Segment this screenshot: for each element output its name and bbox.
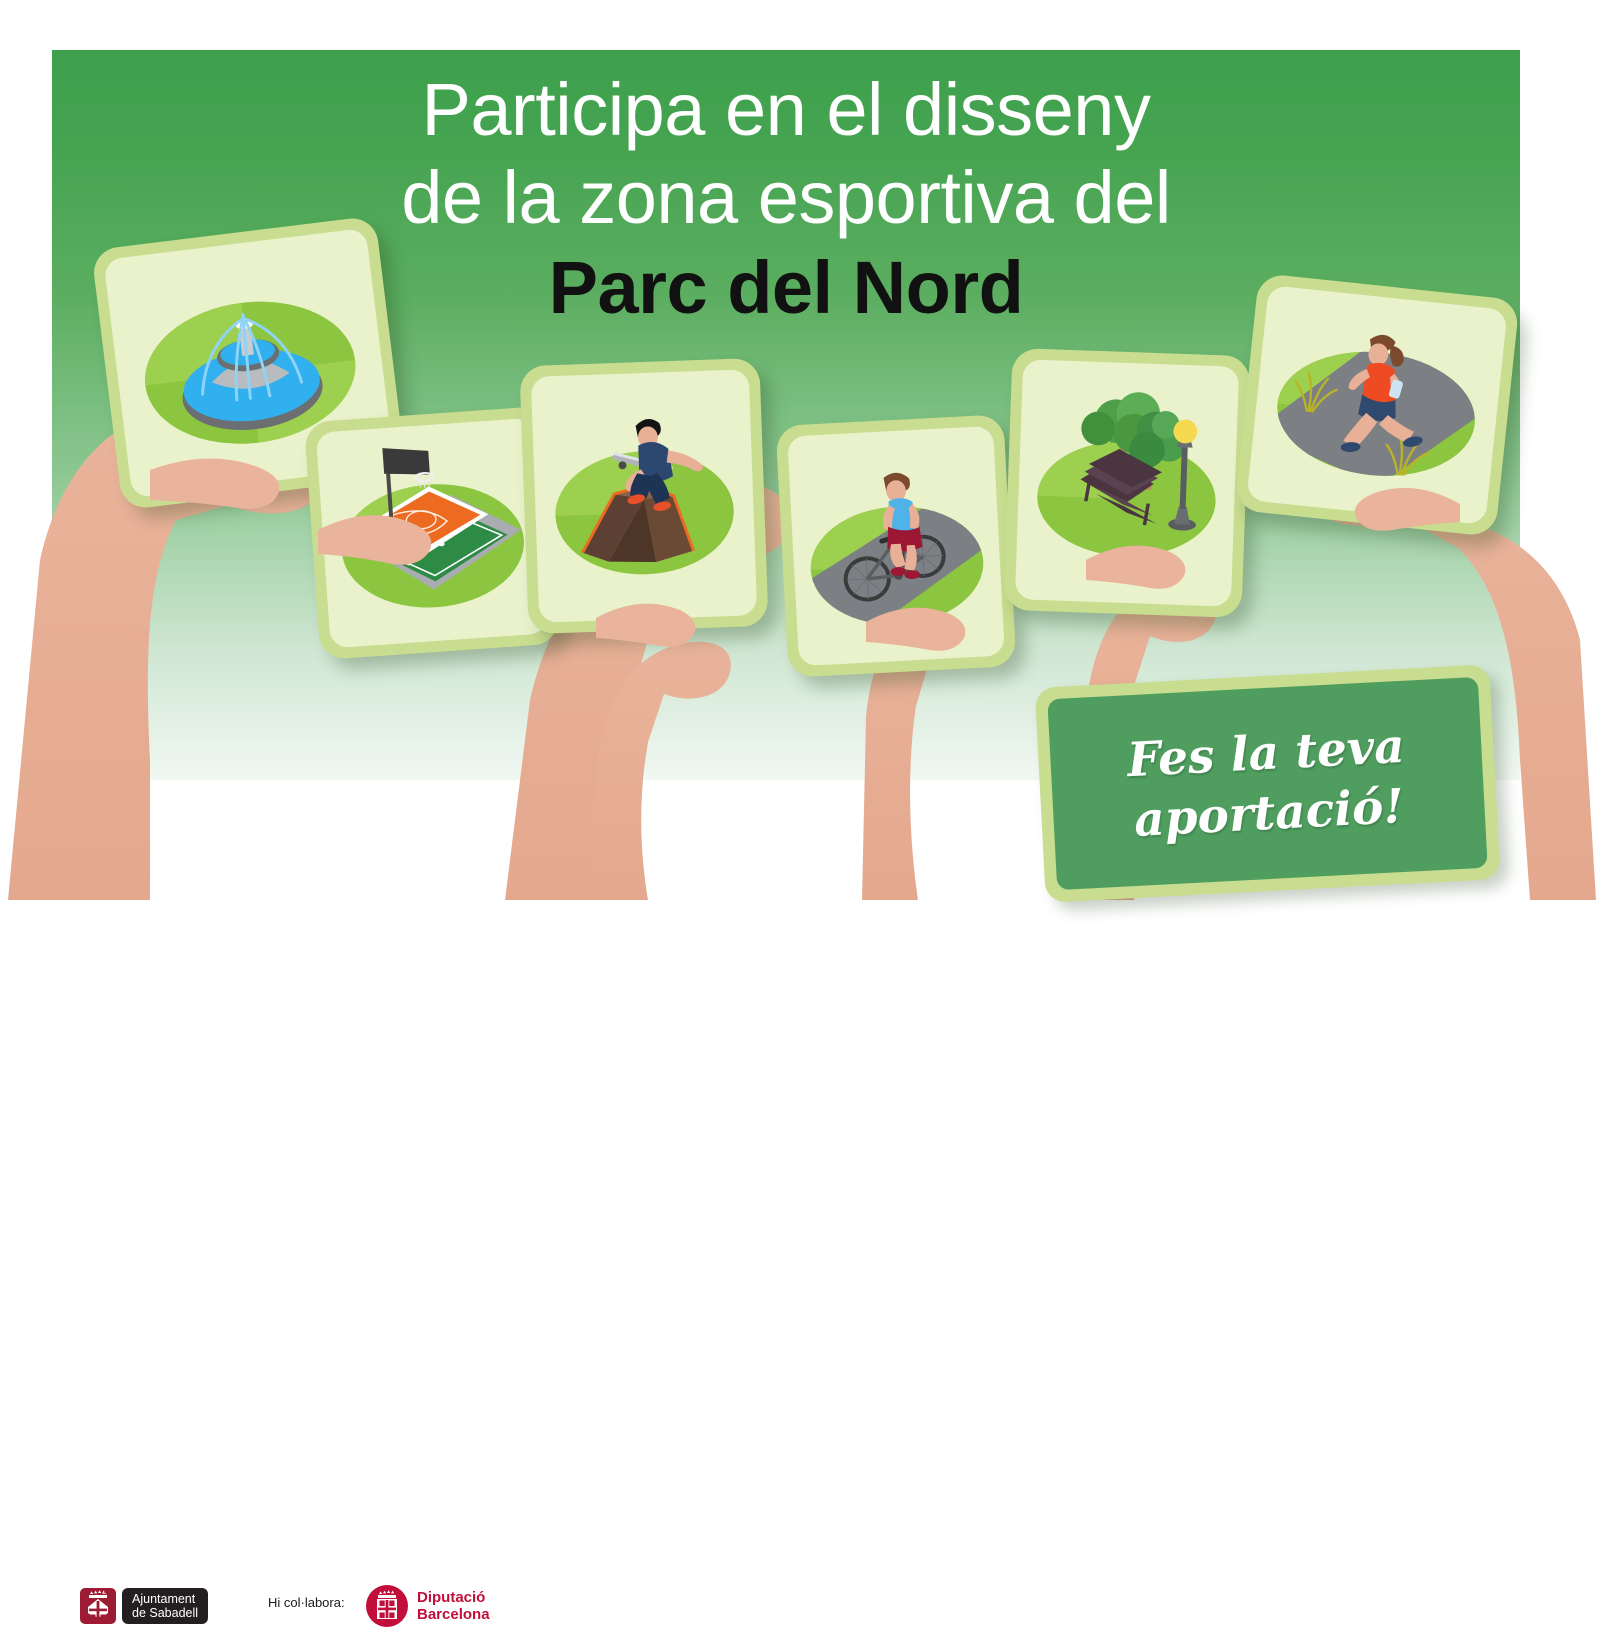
runner-icon xyxy=(1246,285,1507,525)
sabadell-shield-icon xyxy=(80,1588,116,1624)
sabadell-name-plate: Ajuntament de Sabadell xyxy=(122,1588,208,1624)
diputacio-barcelona-logo[interactable]: Diputació Barcelona xyxy=(366,1585,490,1627)
footer-logos: Ajuntament de Sabadell Hi col·labora: xyxy=(0,790,1600,850)
diputacio-name-line-1: Diputació xyxy=(417,1589,490,1606)
card-running-face xyxy=(1246,285,1507,525)
call-to-action-inner: Fes la teva aportació! xyxy=(1047,677,1487,890)
skateboarder-icon xyxy=(531,369,757,622)
ajuntament-sabadell-logo[interactable]: Ajuntament de Sabadell xyxy=(80,1588,208,1624)
cyclist-icon xyxy=(787,426,1005,666)
sabadell-name-line-2: de Sabadell xyxy=(132,1606,198,1620)
card-skatepark[interactable] xyxy=(519,358,768,634)
card-bikepath-face xyxy=(787,426,1005,666)
card-running[interactable] xyxy=(1234,273,1519,537)
card-skatepark-face xyxy=(531,369,757,622)
poster-canvas: Participa en el disseny de la zona espor… xyxy=(0,0,1600,900)
diputacio-name-line-2: Barcelona xyxy=(417,1606,490,1623)
sabadell-name-line-1: Ajuntament xyxy=(132,1592,198,1606)
callout-line-1: Fes la teva xyxy=(1126,718,1406,787)
card-bikepath[interactable] xyxy=(776,414,1017,678)
card-parkbench-face xyxy=(1015,359,1239,606)
diputacio-seal-icon xyxy=(366,1585,408,1627)
collaboration-label: Hi col·labora: xyxy=(268,1595,345,1610)
sports-court-icon xyxy=(316,418,549,649)
diputacio-name-plate: Diputació Barcelona xyxy=(417,1589,490,1623)
call-to-action-box[interactable]: Fes la teva aportació! xyxy=(1035,664,1501,903)
card-parkbench[interactable] xyxy=(1004,348,1251,618)
card-sportcourt-face xyxy=(316,418,549,649)
bench-tree-lamp-icon xyxy=(1015,359,1239,606)
